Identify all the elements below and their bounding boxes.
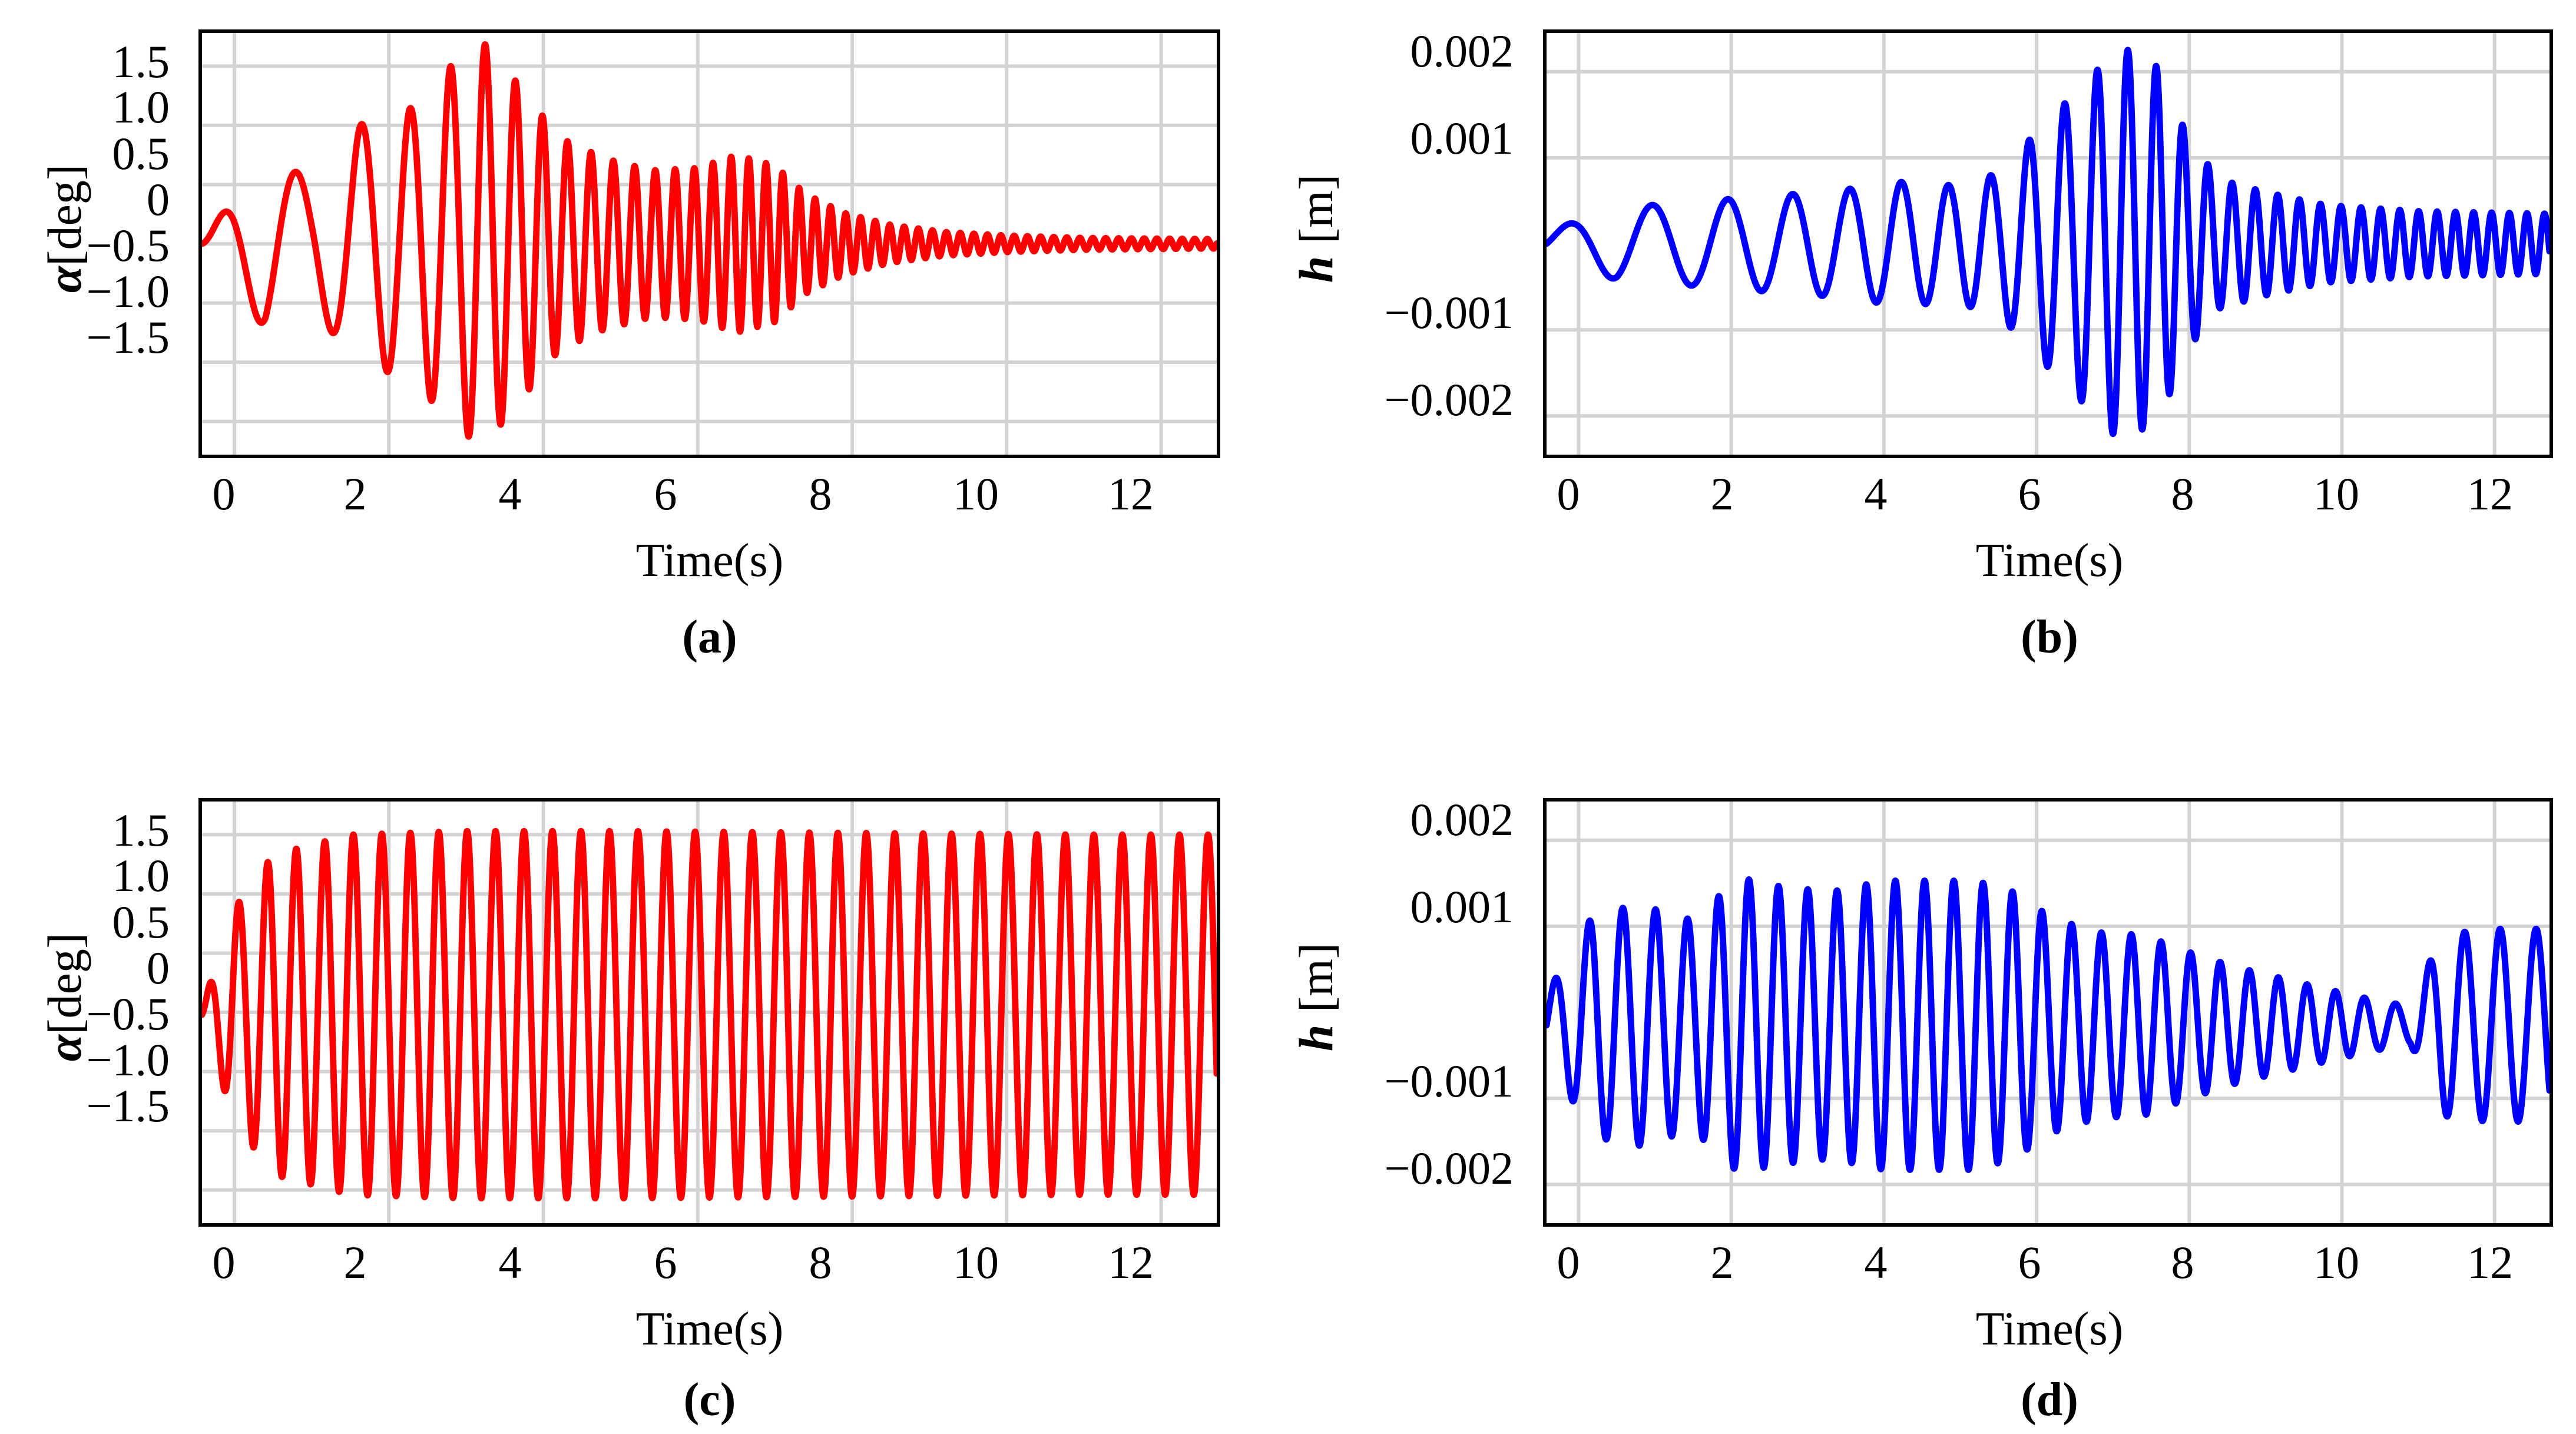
xtick-a-1: 2 (305, 471, 405, 517)
xtick-b-3: 6 (1979, 471, 2080, 517)
y-axis-label-b: h [m] (1291, 140, 1342, 317)
xtick-b-2: 4 (1826, 471, 1926, 517)
ytick-d-2: −0.001 (1319, 1058, 1514, 1104)
xtick-c-0: 0 (174, 1240, 274, 1286)
ytick-b-2: −0.001 (1319, 290, 1514, 336)
plot-canvas-c (202, 802, 1217, 1223)
xtick-b-1: 2 (1672, 471, 1772, 517)
xtick-c-3: 6 (615, 1240, 716, 1286)
y-axis-unit-a: [deg] (38, 164, 91, 266)
xtick-a-0: 0 (174, 471, 274, 517)
subcaption-a: (a) (592, 612, 827, 662)
figure-root: 1.5 1.0 0.5 0 −0.5 −1.0 −1.5 α[deg] 0 2 … (0, 0, 2576, 1434)
ytick-d-0: 0.002 (1319, 797, 1514, 843)
ytick-a-0: 1.5 (24, 39, 170, 85)
plot-canvas-a (202, 33, 1217, 455)
plot-area-a (198, 29, 1220, 458)
y-axis-label-a: α[deg] (39, 131, 90, 326)
y-axis-symbol-d: h (1289, 1025, 1343, 1052)
xtick-b-4: 8 (2133, 471, 2233, 517)
ytick-b-3: −0.002 (1319, 377, 1514, 423)
xtick-a-2: 4 (460, 471, 560, 517)
plot-area-b (1543, 29, 2553, 458)
x-axis-label-a: Time(s) (592, 536, 827, 585)
ytick-b-0: 0.002 (1319, 28, 1514, 74)
xtick-d-5: 10 (2286, 1240, 2386, 1286)
subcaption-c: (c) (592, 1375, 827, 1425)
y-axis-unit-b: [m] (1289, 174, 1343, 244)
xtick-d-3: 6 (1979, 1240, 2080, 1286)
xtick-d-0: 0 (1518, 1240, 1618, 1286)
y-axis-label-d: h [m] (1291, 909, 1342, 1085)
ytick-b-1: 0.001 (1319, 115, 1514, 161)
ytick-c-1: 1.0 (24, 853, 170, 899)
xtick-d-2: 4 (1826, 1240, 1926, 1286)
plot-area-d (1543, 798, 2553, 1227)
subcaption-b: (b) (1932, 612, 2167, 662)
y-axis-symbol-a: α (38, 266, 91, 293)
ytick-a-1: 1.0 (24, 84, 170, 130)
ytick-c-0: 1.5 (24, 807, 170, 853)
x-axis-label-c: Time(s) (592, 1304, 827, 1354)
y-axis-unit-c: [deg] (38, 933, 91, 1035)
x-axis-label-b: Time(s) (1932, 536, 2167, 585)
plot-canvas-d (1547, 802, 2549, 1223)
xtick-c-4: 8 (770, 1240, 870, 1286)
xtick-d-4: 8 (2133, 1240, 2233, 1286)
y-axis-unit-d: [m] (1289, 943, 1343, 1012)
xtick-c-6: 12 (1081, 1240, 1181, 1286)
xtick-a-6: 12 (1081, 471, 1181, 517)
plot-canvas-b (1547, 33, 2549, 455)
xtick-c-2: 4 (460, 1240, 560, 1286)
plot-area-c (198, 798, 1220, 1227)
xtick-b-6: 12 (2440, 471, 2540, 517)
x-axis-label-d: Time(s) (1932, 1304, 2167, 1354)
y-axis-symbol-c: α (38, 1035, 91, 1061)
xtick-c-5: 10 (926, 1240, 1026, 1286)
xtick-d-1: 2 (1672, 1240, 1772, 1286)
xtick-a-3: 6 (615, 471, 716, 517)
y-axis-symbol-b: h (1289, 256, 1343, 283)
xtick-d-6: 12 (2440, 1240, 2540, 1286)
xtick-a-4: 8 (770, 471, 870, 517)
xtick-b-0: 0 (1518, 471, 1618, 517)
xtick-c-1: 2 (305, 1240, 405, 1286)
subcaption-d: (d) (1932, 1375, 2167, 1425)
y-axis-label-c: α[deg] (39, 900, 90, 1094)
xtick-b-5: 10 (2286, 471, 2386, 517)
ytick-d-1: 0.001 (1319, 884, 1514, 930)
xtick-a-5: 10 (926, 471, 1026, 517)
ytick-d-3: −0.002 (1319, 1145, 1514, 1191)
